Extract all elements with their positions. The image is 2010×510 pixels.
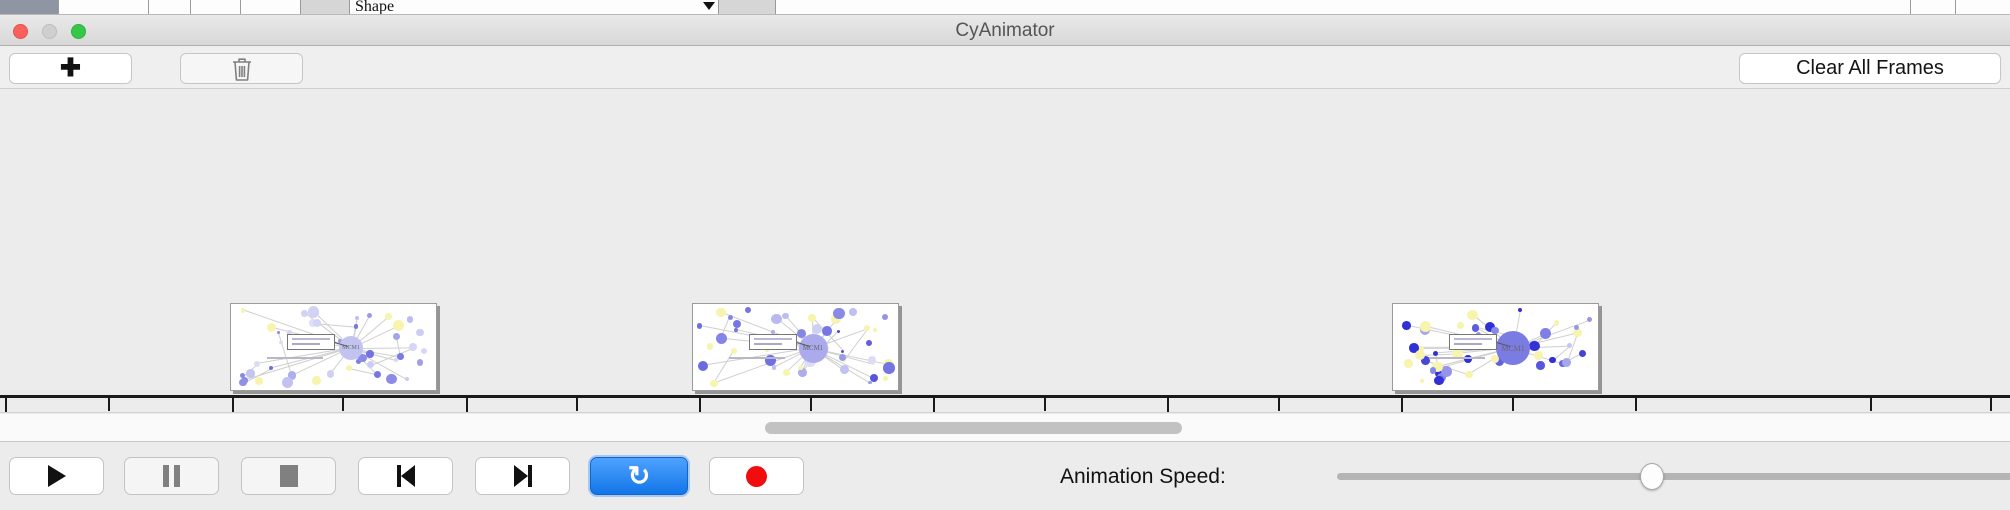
network-node <box>267 323 276 332</box>
network-node <box>734 328 738 332</box>
network-node <box>1562 358 1571 367</box>
network-node <box>716 333 727 344</box>
bg-tab-active <box>0 0 58 15</box>
network-node <box>301 310 308 317</box>
network-node <box>393 320 404 331</box>
bg-segment-2 <box>148 0 154 15</box>
animation-speed-label: Animation Speed: <box>1060 465 1226 489</box>
network-node <box>417 359 424 366</box>
tick-minor-6 <box>1512 398 1514 411</box>
network-node <box>731 348 737 354</box>
delete-frame-button[interactable] <box>180 53 303 84</box>
tick-major-16 <box>933 398 935 413</box>
network-node <box>833 308 844 319</box>
timeline-frame[interactable]: MCM1 <box>692 303 899 391</box>
network-node <box>1420 379 1424 383</box>
bg-segment-8 <box>1955 0 1985 15</box>
network-node <box>355 316 359 320</box>
network-node <box>1579 350 1586 357</box>
tick-major-13 <box>232 398 234 413</box>
network-node <box>733 320 741 328</box>
network-node <box>1465 371 1473 379</box>
network-node <box>1402 321 1411 330</box>
timeline-scrollbar[interactable] <box>0 414 2010 442</box>
network-node <box>882 314 888 320</box>
network-node <box>716 308 726 318</box>
network-callout <box>749 334 797 350</box>
network-node <box>346 365 352 371</box>
network-node <box>1529 341 1540 352</box>
network-node <box>1472 324 1479 331</box>
network-node <box>728 315 733 320</box>
skip-end-button[interactable] <box>475 457 570 495</box>
tick-minor-9 <box>1990 398 1992 411</box>
network-node <box>308 306 320 318</box>
stop-button <box>241 457 336 495</box>
tick-minor-1 <box>342 398 344 411</box>
window-title: CyAnimator <box>0 15 2010 46</box>
network-node <box>808 314 816 322</box>
loop-icon: ↻ <box>628 463 651 490</box>
network-node <box>772 365 776 369</box>
network-node <box>697 323 702 328</box>
network-node <box>367 313 372 318</box>
network-node <box>837 330 841 334</box>
tick-minor-5 <box>1278 398 1280 411</box>
tick-minor-4 <box>1044 398 1046 411</box>
network-node <box>366 350 373 357</box>
network-node <box>1467 310 1477 320</box>
record-button[interactable] <box>709 457 804 495</box>
pause-icon <box>163 465 180 487</box>
network-node <box>1434 376 1443 385</box>
network-node <box>374 371 381 378</box>
network-callout <box>1449 334 1497 350</box>
network-node <box>1587 317 1592 322</box>
network-node <box>1518 308 1522 312</box>
timeline-frame[interactable]: MCM1 <box>230 303 437 391</box>
record-icon <box>746 466 767 487</box>
trash-icon <box>231 56 253 82</box>
network-node <box>839 354 846 361</box>
scrollbar-thumb[interactable] <box>765 422 1182 434</box>
network-caption-text <box>1429 357 1485 359</box>
tick-minor-3 <box>810 398 812 411</box>
bg-segment-5 <box>300 0 350 15</box>
pause-button <box>124 457 219 495</box>
play-button[interactable] <box>9 457 104 495</box>
loop-button[interactable]: ↻ <box>590 457 688 495</box>
network-node <box>1441 366 1452 377</box>
tick-major-15 <box>699 398 701 413</box>
network-node <box>822 326 832 336</box>
cyanimator-window: Shape CyAnimator ✚ Clear All Frames 1213… <box>0 0 2010 510</box>
network-node <box>745 307 751 313</box>
network-node <box>840 365 849 374</box>
animation-speed-knob[interactable] <box>1640 463 1664 490</box>
network-node <box>407 316 413 322</box>
tick-major-17 <box>1167 398 1169 413</box>
tick-minor-7 <box>1635 398 1637 411</box>
network-node <box>393 333 400 340</box>
network-callout <box>287 334 335 350</box>
skip-start-button[interactable] <box>358 457 453 495</box>
network-node <box>782 313 788 319</box>
network-node <box>1536 361 1544 369</box>
playback-controls: ↻ Animation Speed: <box>0 443 2010 510</box>
add-frame-button[interactable]: ✚ <box>9 53 132 84</box>
network-node <box>405 377 409 381</box>
network-node <box>279 341 282 344</box>
network-node <box>367 361 374 368</box>
timeline-frame[interactable]: MCM1 <box>1392 303 1599 391</box>
network-node <box>870 374 878 382</box>
network-node <box>327 370 334 377</box>
bg-segment-7 <box>1910 0 1940 15</box>
tick-minor-2 <box>576 398 578 411</box>
network-thumbnail: MCM1 <box>1393 304 1598 390</box>
bg-segment-1 <box>58 0 138 15</box>
network-node <box>1554 320 1560 326</box>
network-node <box>1534 351 1542 359</box>
network-node <box>277 331 280 334</box>
timeline-panel[interactable]: 12131415161718 MCM1MCM1MCM1 Seconds <box>0 89 2010 413</box>
bg-segment-3 <box>190 0 194 15</box>
title-bar: CyAnimator <box>0 15 2010 46</box>
network-node <box>416 329 424 337</box>
tick-minor-8 <box>1870 398 1872 411</box>
bg-cursor-arrow <box>703 2 715 10</box>
network-node <box>1420 321 1431 332</box>
timeline-axis <box>0 395 2010 398</box>
network-node <box>241 308 245 312</box>
network-node <box>783 369 790 376</box>
skip-back-icon <box>397 465 415 487</box>
network-node <box>707 343 714 350</box>
network-node <box>710 380 717 387</box>
network-hub-node: MCM1 <box>799 334 828 363</box>
bg-window-text: Shape <box>355 0 394 15</box>
network-node <box>421 348 427 354</box>
background-window-strip: Shape <box>0 0 2010 15</box>
network-node <box>255 377 263 385</box>
network-edge <box>371 347 414 365</box>
network-node <box>397 353 404 360</box>
animation-speed-slider[interactable] <box>1337 473 2010 480</box>
plus-icon: ✚ <box>60 56 81 81</box>
skip-forward-icon <box>514 465 532 487</box>
toolbar: ✚ Clear All Frames <box>0 46 2010 89</box>
network-node <box>883 362 895 374</box>
tick-major-12 <box>5 398 7 413</box>
network-node <box>254 361 260 367</box>
play-icon <box>48 465 66 487</box>
network-node <box>812 324 822 334</box>
clear-all-frames-button[interactable]: Clear All Frames <box>1739 53 2001 84</box>
network-hub-node: MCM1 <box>1496 331 1530 365</box>
network-node <box>246 369 254 377</box>
network-node <box>312 376 320 384</box>
tick-major-14 <box>466 398 468 413</box>
network-hub-node: MCM1 <box>339 336 363 360</box>
network-node <box>883 376 888 381</box>
network-node <box>873 328 877 332</box>
network-node <box>698 361 708 371</box>
network-node <box>1574 325 1579 330</box>
network-node <box>239 379 246 386</box>
bg-segment-4 <box>240 0 244 15</box>
network-node <box>385 313 392 320</box>
network-node <box>866 340 872 346</box>
bg-segment-6 <box>718 0 776 15</box>
network-node <box>409 343 417 351</box>
network-node <box>1433 351 1438 356</box>
network-node <box>1540 328 1551 339</box>
network-node <box>1430 367 1437 374</box>
network-node <box>864 325 870 331</box>
network-node <box>798 366 803 371</box>
network-node <box>1404 359 1413 368</box>
tick-major-18 <box>1401 398 1403 413</box>
network-node <box>282 377 293 388</box>
network-node <box>354 324 358 328</box>
network-node <box>868 356 877 365</box>
network-caption-text <box>729 357 785 359</box>
network-thumbnail: MCM1 <box>693 304 898 390</box>
network-node <box>394 358 397 361</box>
stop-icon <box>280 465 298 487</box>
network-node <box>1457 322 1464 329</box>
network-caption-text <box>267 357 323 359</box>
network-node <box>386 374 397 385</box>
network-node <box>849 308 857 316</box>
tick-minor-0 <box>108 398 110 411</box>
network-thumbnail: MCM1 <box>231 304 436 390</box>
